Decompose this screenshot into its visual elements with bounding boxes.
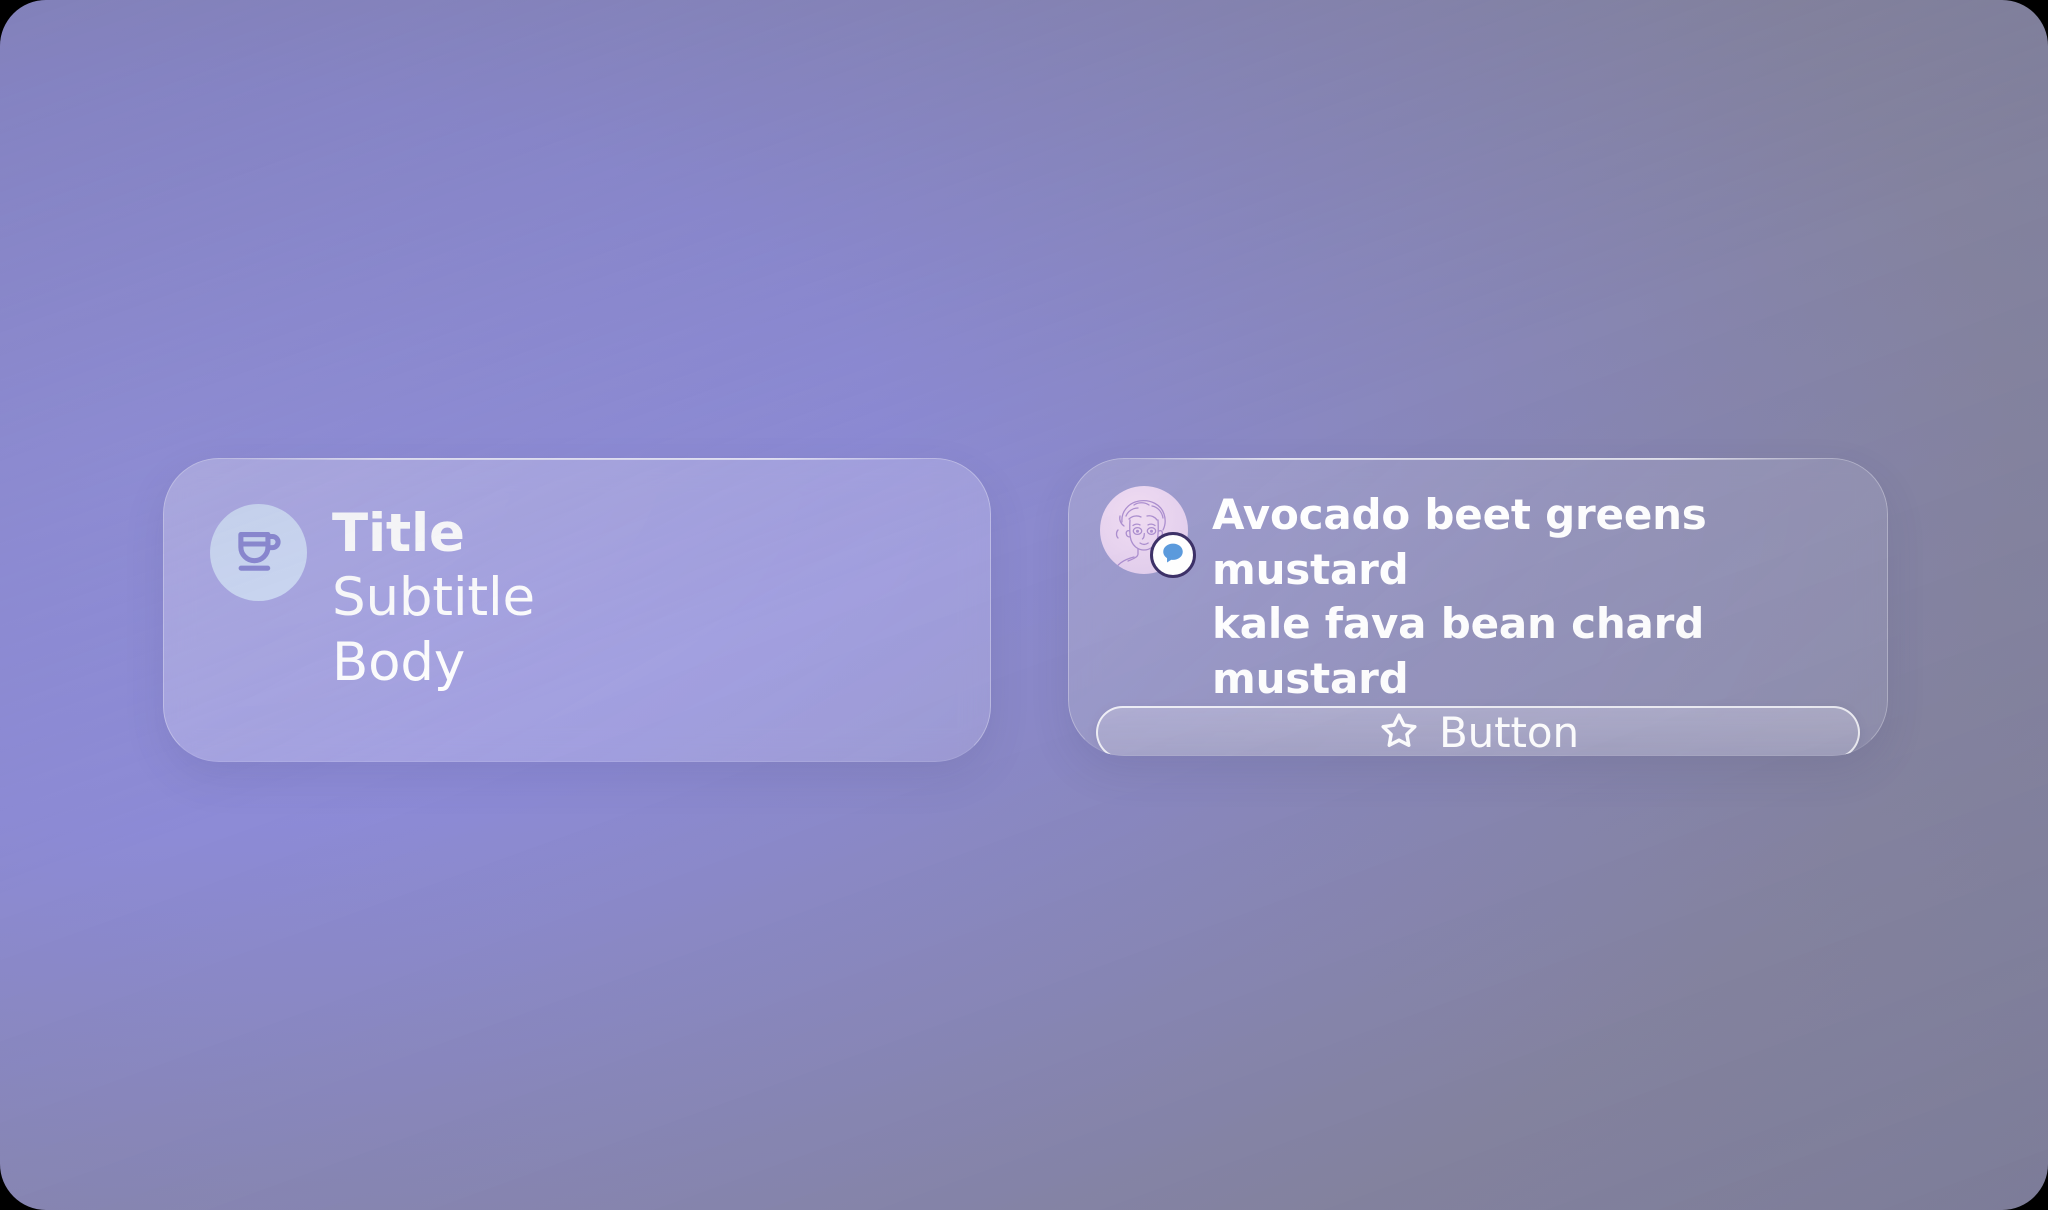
chat-bubble-icon — [1160, 540, 1186, 570]
right-card-text: Avocado beet greens mustard kale fava be… — [1212, 486, 1860, 706]
right-card[interactable]: Avocado beet greens mustard kale fava be… — [1068, 458, 1888, 756]
right-card-media-row: Avocado beet greens mustard kale fava be… — [1096, 486, 1860, 706]
card-top-edge-highlight — [1134, 458, 1823, 460]
left-card[interactable]: Title Subtitle Body — [163, 458, 991, 762]
star-outline-icon — [1377, 709, 1421, 756]
card-body: Body — [332, 633, 535, 694]
card-top-edge-highlight — [229, 458, 925, 460]
card-subtitle: Subtitle — [332, 568, 535, 629]
left-card-text-stack: Title Subtitle Body — [332, 504, 535, 694]
coffee-icon-circle — [210, 504, 307, 601]
right-card-text-line-2: kale fava bean chard mustard — [1212, 597, 1860, 706]
chat-bubble-badge — [1150, 532, 1196, 578]
screen-background: Title Subtitle Body — [0, 0, 2048, 1210]
primary-button[interactable]: Button — [1096, 706, 1860, 756]
card-title: Title — [332, 504, 535, 564]
coffee-cup-icon — [230, 522, 288, 584]
avatar[interactable] — [1100, 486, 1188, 574]
primary-button-label: Button — [1439, 708, 1579, 756]
right-card-text-line-1: Avocado beet greens mustard — [1212, 488, 1860, 597]
